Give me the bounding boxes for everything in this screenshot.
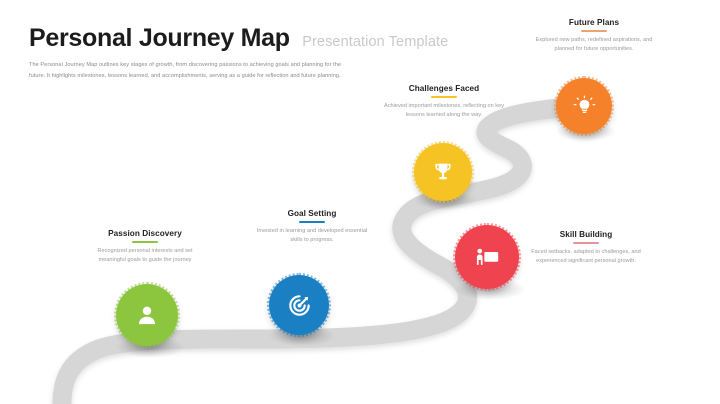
step-goal-setting-desc: Invested in learning and developed essen… — [252, 227, 372, 245]
step-goal-setting-title: Goal Setting — [252, 209, 372, 218]
step-skill-building-desc: Faced setbacks, adapted to challenges, a… — [520, 248, 652, 266]
step-future-plans-title: Future Plans — [528, 18, 660, 27]
user-icon — [134, 302, 160, 328]
title-line: Personal Journey Map Presentation Templa… — [29, 26, 449, 51]
lightbulb-icon — [573, 95, 596, 118]
page-title: Personal Journey Map — [29, 24, 290, 52]
step-skill-building-title: Skill Building — [520, 230, 652, 239]
step-passion-discovery-text: Passion Discovery Recognized personal in… — [85, 229, 205, 265]
step-passion-discovery-icon-circle[interactable] — [116, 284, 178, 346]
step-challenges-faced-rule — [431, 96, 457, 98]
step-future-plans-text: Future Plans Explored new paths, redefin… — [528, 18, 660, 54]
step-skill-building-icon-circle[interactable] — [455, 225, 519, 289]
step-future-plans-icon-circle[interactable] — [556, 78, 612, 134]
step-passion-discovery-desc: Recognized personal interests and set me… — [85, 247, 205, 265]
target-arrow-icon — [287, 293, 312, 318]
step-goal-setting-text: Goal Setting Invested in learning and de… — [252, 209, 372, 245]
slide-header: Personal Journey Map Presentation Templa… — [29, 26, 449, 82]
step-passion-discovery-rule — [132, 241, 158, 243]
presentation-training-icon — [474, 244, 501, 271]
step-challenges-faced-text: Challenges Faced Achieved important mile… — [378, 84, 510, 120]
step-challenges-faced-title: Challenges Faced — [378, 84, 510, 93]
step-goal-setting-icon-circle[interactable] — [269, 275, 329, 335]
step-skill-building-text: Skill Building Faced setbacks, adapted t… — [520, 230, 652, 266]
step-future-plans-desc: Explored new paths, redefined aspiration… — [528, 36, 660, 54]
page-subtitle: Presentation Template — [302, 34, 448, 50]
intro-paragraph: The Personal Journey Map outlines key st… — [29, 60, 349, 82]
step-challenges-faced-icon-circle[interactable] — [414, 143, 472, 201]
step-future-plans-rule — [581, 30, 607, 32]
step-goal-setting-rule — [299, 221, 325, 223]
step-passion-discovery-title: Passion Discovery — [85, 229, 205, 238]
step-challenges-faced-desc: Achieved important milestones, reflectin… — [378, 102, 510, 120]
trophy-icon — [431, 160, 455, 184]
slide-canvas: Personal Journey Map Presentation Templa… — [0, 0, 720, 404]
step-skill-building-rule — [573, 242, 599, 244]
